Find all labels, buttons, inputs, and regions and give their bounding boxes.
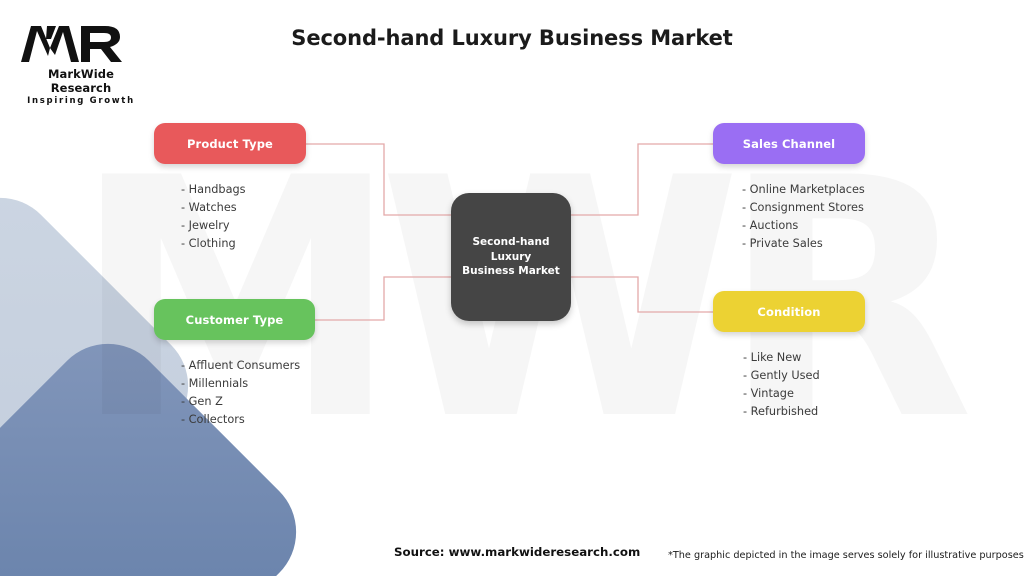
list-item: - Like New [743,349,865,367]
category-label-sales-channel: Sales Channel [743,137,835,151]
list-item: - Vintage [743,385,865,403]
list-item: - Refurbished [743,403,865,421]
connector-sales-channel [571,144,713,215]
category-header-condition[interactable]: Condition [713,291,865,332]
center-node-line1: Second-hand Luxury [472,236,549,262]
list-item: - Private Sales [742,235,865,253]
category-label-condition: Condition [757,305,820,319]
list-item: - Watches [181,199,306,217]
list-item: - Millennials [181,375,315,393]
category-list-condition: - Like New - Gently Used - Vintage - Ref… [743,349,865,420]
list-item: - Affluent Consumers [181,357,315,375]
list-item: - Auctions [742,217,865,235]
category-customer-type: Customer Type - Affluent Consumers - Mil… [154,299,315,428]
connector-product-type [306,144,451,215]
category-condition: Condition - Like New - Gently Used - Vin… [713,291,865,420]
category-label-product-type: Product Type [187,137,273,151]
connector-condition [571,277,713,312]
category-list-sales-channel: - Online Marketplaces - Consignment Stor… [742,181,865,252]
category-list-product-type: - Handbags - Watches - Jewelry - Clothin… [181,181,306,252]
category-header-sales-channel[interactable]: Sales Channel [713,123,865,164]
category-header-product-type[interactable]: Product Type [154,123,306,164]
category-list-customer-type: - Affluent Consumers - Millennials - Gen… [181,357,315,428]
footer-source: Source: www.markwideresearch.com [394,545,640,559]
list-item: - Collectors [181,411,315,429]
slide-canvas: MWR MarkWide Research Inspiring Growth S… [0,0,1024,576]
list-item: - Clothing [181,235,306,253]
center-node-line2: Business Market [462,265,560,277]
center-node: Second-hand Luxury Business Market [451,193,571,321]
category-label-customer-type: Customer Type [186,313,284,327]
list-item: - Gen Z [181,393,315,411]
list-item: - Jewelry [181,217,306,235]
category-header-customer-type[interactable]: Customer Type [154,299,315,340]
list-item: - Consignment Stores [742,199,865,217]
list-item: - Online Marketplaces [742,181,865,199]
footer-disclaimer: *The graphic depicted in the image serve… [668,550,1024,561]
category-product-type: Product Type - Handbags - Watches - Jewe… [154,123,306,252]
connector-customer-type [315,277,451,320]
center-node-label: Second-hand Luxury Business Market [451,235,571,278]
category-sales-channel: Sales Channel - Online Marketplaces - Co… [713,123,865,252]
list-item: - Handbags [181,181,306,199]
list-item: - Gently Used [743,367,865,385]
